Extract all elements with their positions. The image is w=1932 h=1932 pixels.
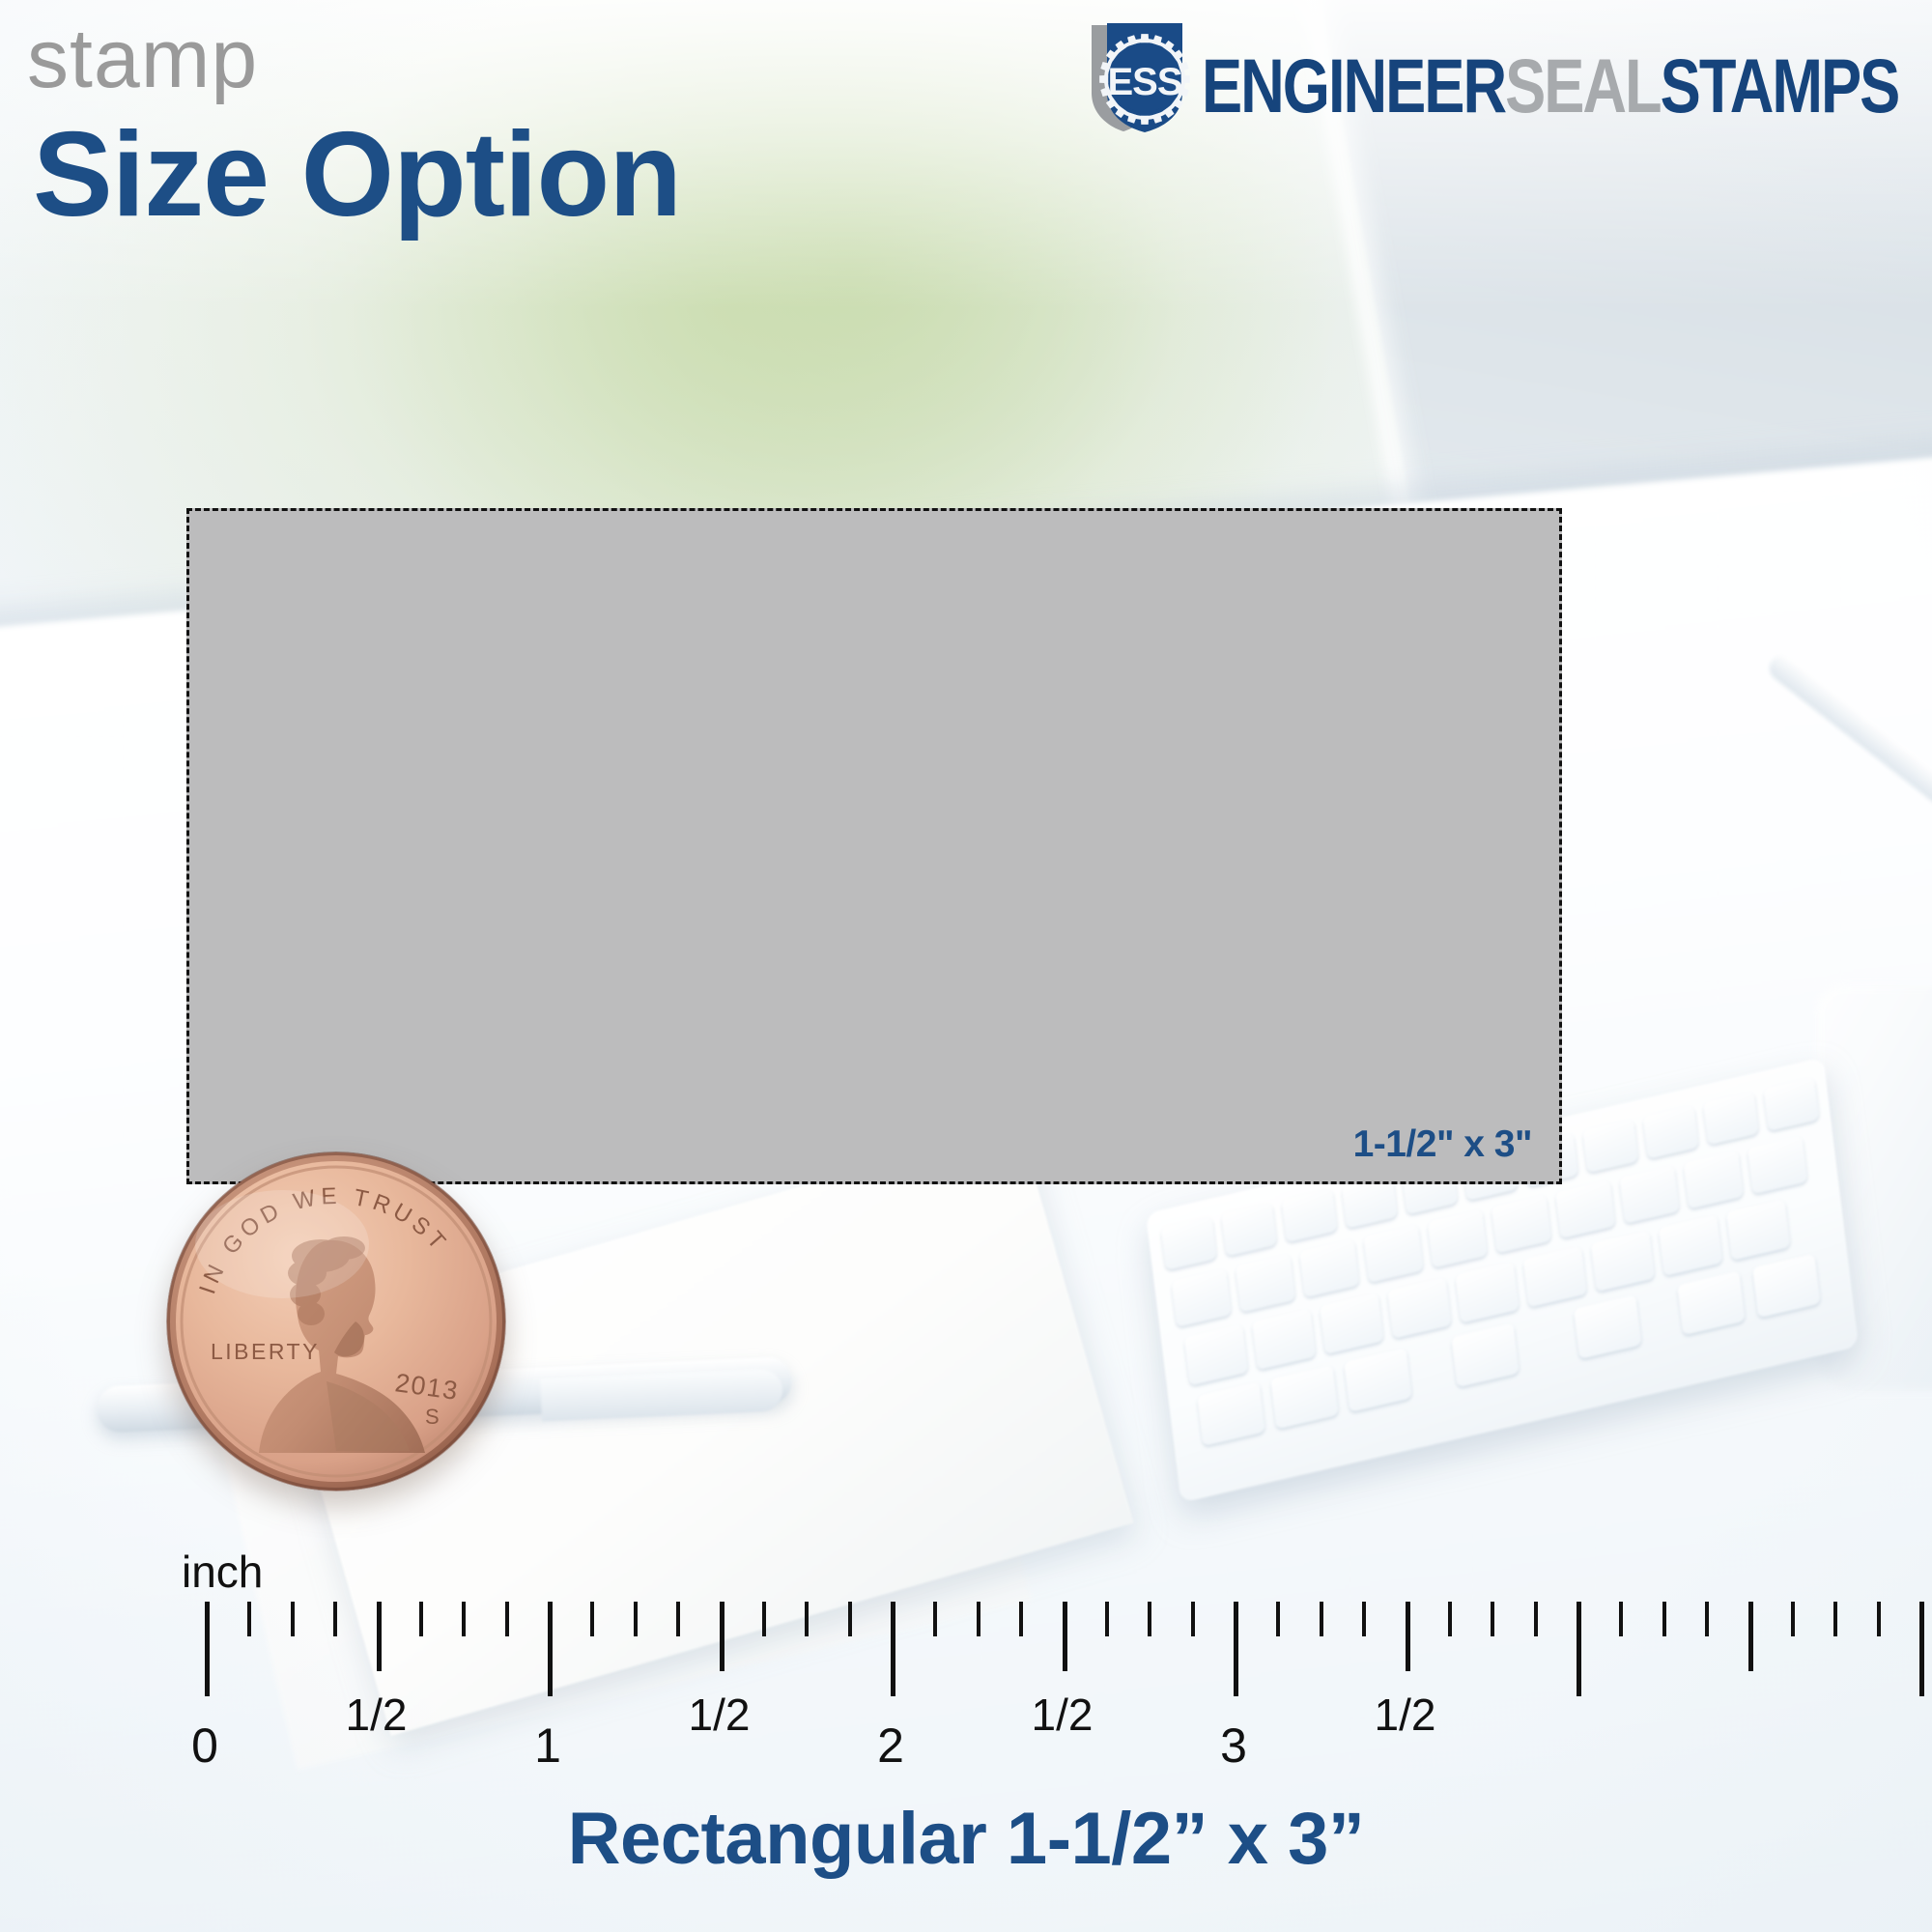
ruler-tick-major	[205, 1602, 210, 1696]
ruler-label: 1/2	[1375, 1689, 1436, 1741]
ruler-tick-major	[1234, 1602, 1238, 1696]
ruler-tick-minor	[462, 1602, 466, 1636]
ruler-tick-minor	[1362, 1602, 1366, 1636]
logo-word-engineer: ENGINEER	[1202, 43, 1505, 128]
ruler-tick-minor	[291, 1602, 295, 1636]
ruler-label: 0	[191, 1718, 218, 1774]
logo-wordmark: ENGINEERSEALSTAMPS .COM	[1202, 33, 1932, 122]
stamp-preview-area: 1-1/2" x 3"	[186, 508, 1562, 1184]
ruler-label: 2	[877, 1718, 904, 1774]
engineer-seal-stamps-logo[interactable]: ESS ENGINEERSEALSTAMPS .COM	[1080, 19, 1920, 135]
ruler-tick-half	[1748, 1602, 1753, 1671]
penny-scale-reference: IN GOD WE TRUST LIBERTY 2013 S	[166, 1151, 506, 1492]
ruler-tick-major	[548, 1602, 553, 1696]
ruler-tick-minor	[1877, 1602, 1881, 1636]
svg-text:ESS: ESS	[1107, 61, 1181, 103]
page-title: Size Option	[33, 112, 681, 238]
ruler-tick-half	[377, 1602, 382, 1671]
ruler-tick-minor	[762, 1602, 766, 1636]
ruler-label: 1	[534, 1718, 561, 1774]
svg-text:LIBERTY: LIBERTY	[211, 1339, 320, 1364]
ruler-tick-minor	[590, 1602, 594, 1636]
ruler-tick-minor	[848, 1602, 852, 1636]
logo-word-wrap: ENGINEERSEALSTAMPS	[1202, 51, 1898, 122]
ruler-tick-major	[1577, 1602, 1581, 1696]
ruler-tick-minor	[805, 1602, 809, 1636]
ruler-tick-minor	[247, 1602, 251, 1636]
size-option-graphic: stamp Size Option ESS ENGINEERSEALSTAMPS…	[0, 0, 1932, 1932]
ruler-label: 1/2	[346, 1689, 408, 1741]
ruler-tick-minor	[1662, 1602, 1666, 1636]
svg-text:S: S	[425, 1405, 440, 1429]
ruler-tick-minor	[1705, 1602, 1709, 1636]
ruler-tick-minor	[1833, 1602, 1837, 1636]
ruler-tick-half	[720, 1602, 724, 1671]
inch-ruler: inch 01/211/221/231/2	[0, 1546, 1932, 1797]
ruler-tick-minor	[1019, 1602, 1023, 1636]
ruler-unit-label: inch	[182, 1546, 263, 1598]
eyebrow-label: stamp	[27, 17, 258, 100]
ruler-tick-minor	[1320, 1602, 1323, 1636]
ruler-tick-minor	[1619, 1602, 1623, 1636]
ruler-tick-minor	[634, 1602, 638, 1636]
ruler-tick-minor	[676, 1602, 680, 1636]
ruler-tick-minor	[505, 1602, 509, 1636]
ruler-label: 1/2	[689, 1689, 751, 1741]
ruler-tick-half	[1063, 1602, 1067, 1671]
ruler-tick-minor	[1791, 1602, 1795, 1636]
shape-size-caption: Rectangular 1-1/2” x 3”	[0, 1797, 1932, 1881]
ruler-tick-minor	[1276, 1602, 1280, 1636]
ruler-label: 3	[1220, 1718, 1247, 1774]
ruler-tick-minor	[1105, 1602, 1109, 1636]
ruler-tick-minor	[977, 1602, 980, 1636]
ruler-tick-half	[1406, 1602, 1410, 1671]
ruler-tick-minor	[1191, 1602, 1195, 1636]
stamp-size-label: 1-1/2" x 3"	[1353, 1123, 1532, 1166]
logo-word-seal: SEAL	[1505, 43, 1661, 128]
ruler-tick-major	[891, 1602, 895, 1696]
ruler-tick-minor	[1491, 1602, 1494, 1636]
logo-word-stamps: STAMPS	[1661, 43, 1899, 128]
ruler-tick-minor	[333, 1602, 337, 1636]
ruler-tick-major	[1919, 1602, 1924, 1696]
ruler-tick-minor	[933, 1602, 937, 1636]
ruler-tick-minor	[1148, 1602, 1151, 1636]
ruler-tick-minor	[1534, 1602, 1538, 1636]
ruler-tick-minor	[419, 1602, 423, 1636]
ruler-tick-minor	[1448, 1602, 1452, 1636]
ruler-label: 1/2	[1032, 1689, 1094, 1741]
ess-badge-icon: ESS	[1080, 19, 1194, 135]
